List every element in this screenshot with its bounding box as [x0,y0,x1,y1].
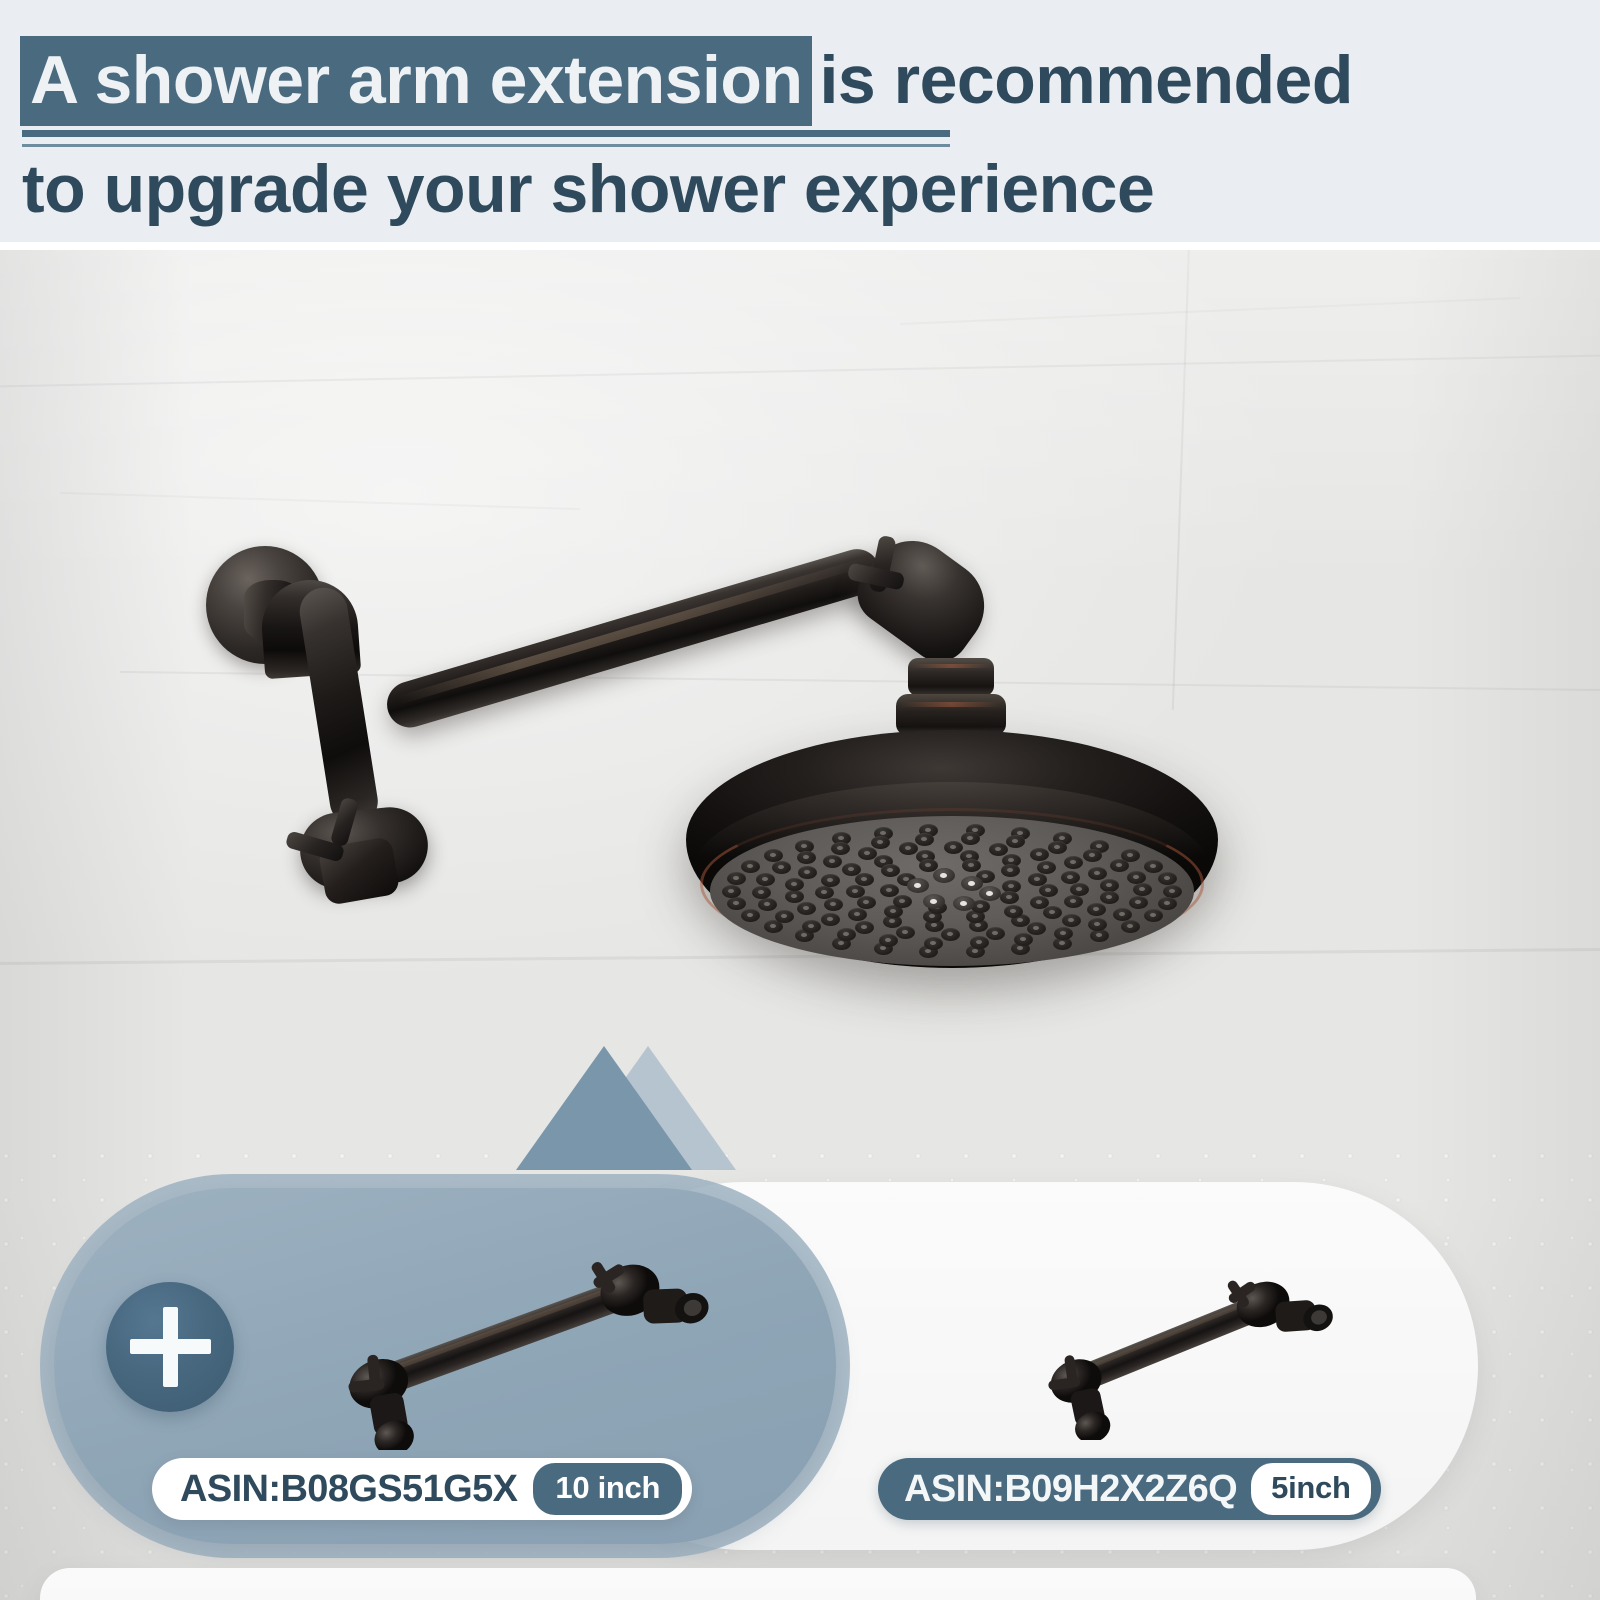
asin-label-5inch: ASIN:B09H2X2Z6Q [904,1468,1237,1511]
headline-wrap: A shower arm extensionis recommended [22,36,1582,122]
size-badge-10inch: 10 inch [533,1463,682,1515]
extension-arm-10inch-image [300,1220,720,1450]
headline-rest-phrase: is recommended [820,36,1353,119]
headline-highlight-phrase: A shower arm extension [20,36,812,126]
product-cards-row: ASIN:B08GS51G5X 10 inch ASIN:B09H2X2Z6Q … [0,250,1600,1600]
asin-pill-5inch[interactable]: ASIN:B09H2X2Z6Q 5inch [878,1458,1381,1520]
headline-line-1: A shower arm extensionis recommended [22,36,1582,122]
headline-line-2: to upgrade your shower experience [22,150,1154,228]
plus-icon [106,1282,234,1412]
asin-pill-10inch[interactable]: ASIN:B08GS51G5X 10 inch [152,1458,692,1520]
size-badge-5inch: 5inch [1251,1463,1370,1515]
headline-underline-thick [22,130,950,137]
hero-photo-stage: ASIN:B08GS51G5X 10 inch ASIN:B09H2X2Z6Q … [0,250,1600,1600]
bottom-caption-panel: The 5” or 10” Extension Arm can adjust t… [40,1568,1476,1600]
asin-label-10inch: ASIN:B08GS51G5X [180,1468,517,1511]
headline-banner: A shower arm extensionis recommended to … [0,0,1600,242]
caption-line-1: The 5” or 10” Extension Arm can adjust t… [40,1594,1476,1600]
extension-arm-5inch-image [1010,1240,1340,1440]
headline-underline-thin [22,144,950,147]
